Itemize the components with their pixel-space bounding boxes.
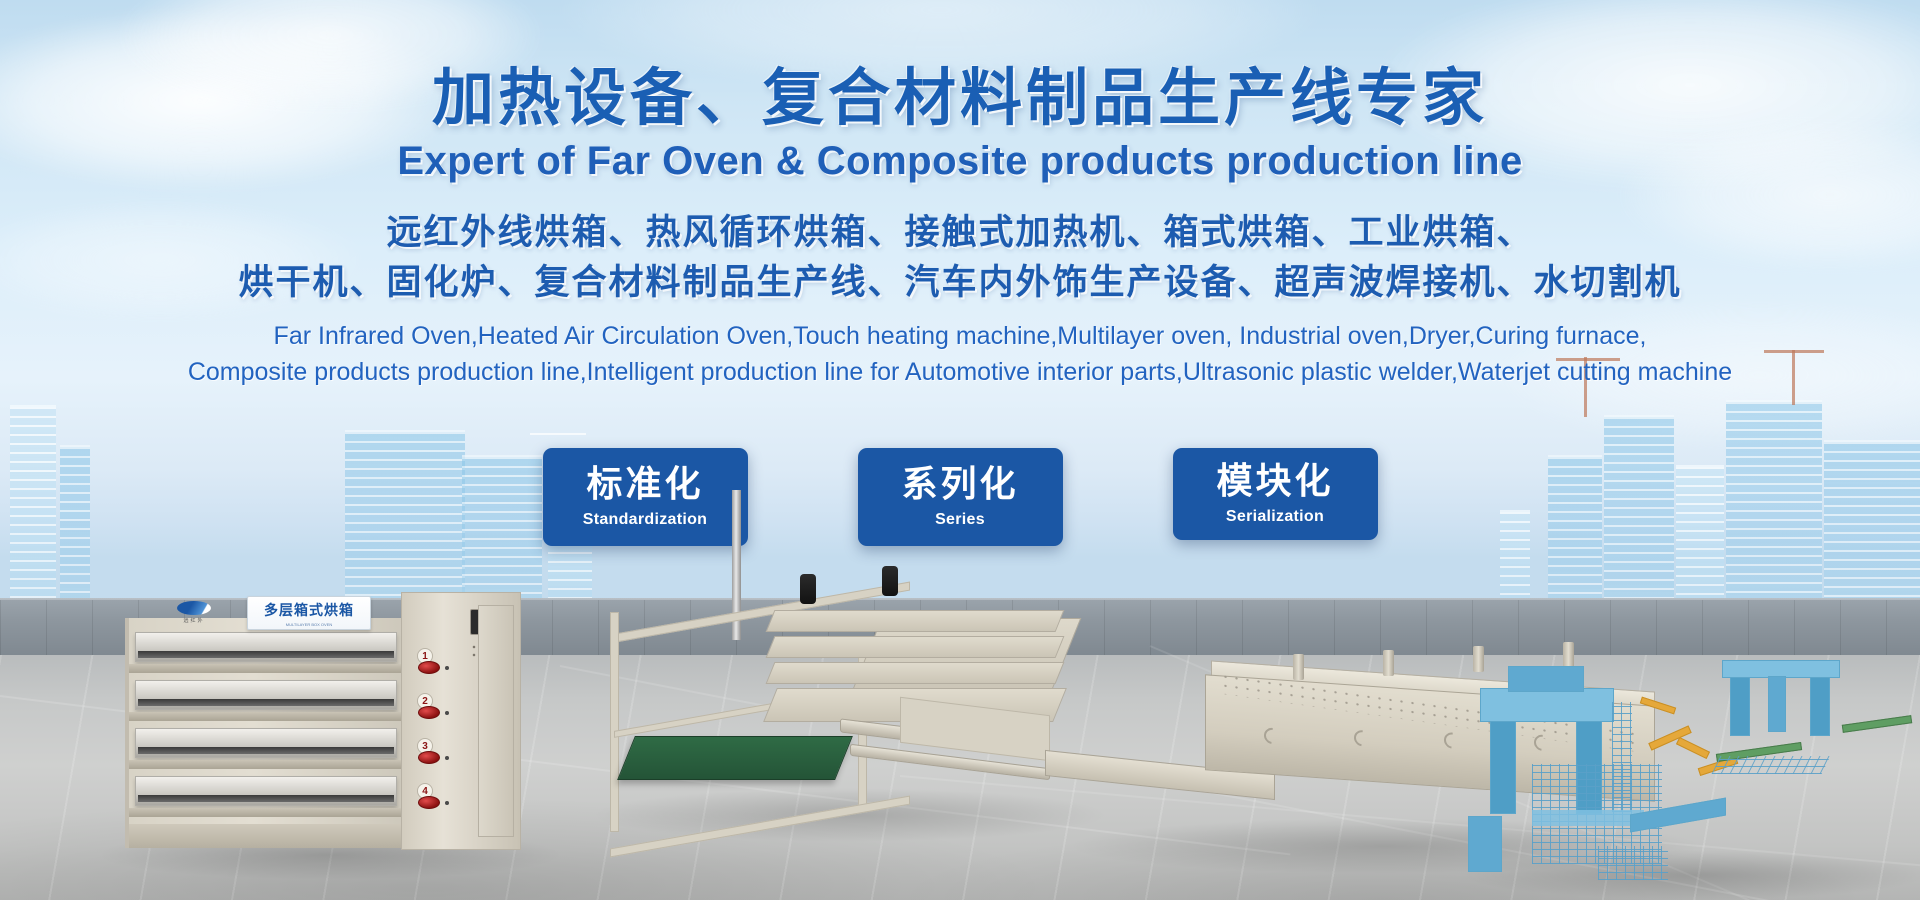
badge-series[interactable]: 系列化 Series: [858, 448, 1063, 546]
product-list-cn-line: 远红外线烘箱、热风循环烘箱、接触式加热机、箱式烘箱、工业烘箱、: [0, 208, 1920, 258]
badge-label-en: Serialization: [1226, 508, 1324, 526]
blue-transfer-table: [1712, 756, 1831, 774]
oven-shelf-base: [129, 712, 403, 721]
brand-logo-text: 远红外: [183, 617, 204, 624]
machine-shadow: [1460, 850, 1920, 900]
headline-block: 加热设备、复合材料制品生产线专家 Expert of Far Oven & Co…: [0, 0, 1920, 390]
oven-indicator-lamp: [418, 661, 440, 674]
oven-name-plate-sub: MULTILAYER BOX OVEN: [286, 622, 333, 627]
oven-shelf-base: [129, 808, 403, 817]
oven-name-plate: 多层箱式烘箱 MULTILAYER BOX OVEN: [247, 596, 371, 630]
badge-standardization[interactable]: 标准化 Standardization: [543, 448, 748, 546]
tunnel-viewport-icon: [1441, 729, 1464, 751]
badge-label-en: Standardization: [583, 511, 708, 529]
machine-multilayer-oven: 1 2 3 4 远红外 多层: [125, 618, 515, 858]
blue-gantry-post: [1730, 674, 1750, 736]
oven-shelf: [135, 776, 397, 806]
oven-control-cabinet: [401, 592, 521, 850]
blue-press-head: [1508, 666, 1584, 692]
tunnel-exhaust-stack: [1383, 650, 1394, 676]
product-list-cn: 远红外线烘箱、热风循环烘箱、接触式加热机、箱式烘箱、工业烘箱、 烘干机、固化炉、…: [0, 208, 1920, 307]
machine-composite-press: [600, 560, 1120, 860]
press-platen: [766, 610, 1065, 632]
oven-indicator-dot: [445, 711, 449, 715]
page-subtitle: Expert of Far Oven & Composite products …: [0, 139, 1920, 184]
blue-platform-deck: [1532, 810, 1644, 826]
blue-gantry-post: [1768, 676, 1786, 732]
oven-shelf: [135, 632, 397, 662]
oven-indicator-dot: [445, 666, 449, 670]
oven-brand-logo: 远红外: [165, 598, 223, 626]
product-list-cn-line: 烘干机、固化炉、复合材料制品生产线、汽车内外饰生产设备、超声波焊接机、水切割机: [0, 258, 1920, 308]
oven-indicator-lamp: [418, 796, 440, 809]
oven-name-plate-title: 多层箱式烘箱: [264, 600, 354, 620]
machine-blue-production-line: [1480, 660, 1920, 900]
badge-serialization[interactable]: 模块化 Serialization: [1173, 448, 1378, 540]
blue-press-crown: [1480, 688, 1614, 722]
badge-label-en: Series: [935, 511, 985, 529]
press-platen: [766, 636, 1065, 658]
page-title: 加热设备、复合材料制品生产线专家: [0, 66, 1920, 133]
press-platen: [766, 662, 1065, 684]
blue-gantry-post: [1810, 674, 1830, 736]
oven-shelf-base: [129, 760, 403, 769]
feature-badges: 标准化 Standardization 系列化 Series 模块化 Seria…: [0, 448, 1920, 546]
product-list-en: Far Infrared Oven,Heated Air Circulation…: [0, 319, 1920, 390]
oven-indicator-lamp: [418, 706, 440, 719]
blue-cabinet: [1468, 816, 1502, 872]
oven-indicator-dot: [445, 801, 449, 805]
blue-stair: [1598, 846, 1668, 880]
brand-swoosh-icon: [177, 601, 211, 615]
tunnel-exhaust-stack: [1293, 654, 1304, 680]
tunnel-viewport-icon: [1261, 725, 1284, 747]
press-cylinder-knob: [800, 574, 816, 604]
press-conveyor-belt: [617, 736, 853, 780]
oven-plinth: [129, 824, 405, 848]
tunnel-viewport-icon: [1351, 727, 1374, 749]
badge-label-cn: 标准化: [586, 463, 703, 504]
crane-jib: [530, 433, 586, 435]
oven-indicator-lamp: [418, 751, 440, 764]
oven-shelf: [135, 680, 397, 710]
press-frame-post: [610, 612, 619, 832]
blue-frame-post: [1490, 718, 1516, 814]
green-conveyor: [1842, 715, 1912, 733]
product-list-en-line: Composite products production line,Intel…: [0, 355, 1920, 391]
press-cylinder-knob: [882, 566, 898, 596]
oven-shelf-base: [129, 664, 403, 673]
banner-root: 加热设备、复合材料制品生产线专家 Expert of Far Oven & Co…: [0, 0, 1920, 900]
robot-arm: [1640, 697, 1676, 715]
oven-cabinet-door[interactable]: [478, 605, 514, 837]
badge-label-cn: 系列化: [901, 463, 1018, 504]
oven-indicator-dot: [445, 756, 449, 760]
oven-body: [125, 618, 405, 848]
robot-arm: [1676, 737, 1710, 759]
oven-shelf: [135, 728, 397, 758]
product-list-en-line: Far Infrared Oven,Heated Air Circulation…: [0, 319, 1920, 355]
badge-label-cn: 模块化: [1216, 460, 1333, 501]
